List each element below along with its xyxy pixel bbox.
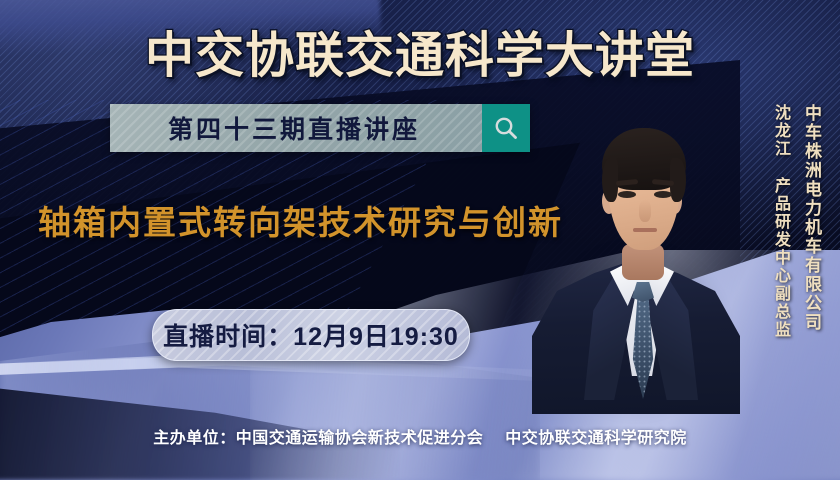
speaker-name-role: 沈龙江 产品研发中心副总监 [768,104,792,339]
episode-label: 第四十三期直播讲座 [168,110,424,146]
page-title: 中交协联交通科学大讲堂 [0,16,840,87]
portrait-hair-side-left [602,158,618,202]
footer-organizers: 主办单位：中国交通运输协会新技术促进分会中交协联交通科学研究院 [0,424,840,448]
episode-banner-background: 第四十三期直播讲座 [110,104,482,152]
portrait-eye-right [654,191,672,198]
footer-organizer-primary: 中国交通运输协会新技术促进分会 [236,430,484,447]
broadcast-time-badge: 直播时间：12月9日19:30 [152,309,470,361]
portrait-nose [639,200,651,222]
portrait-eye-left [618,191,636,198]
speaker-company: 中车株洲电力机车有限公司 [799,104,824,332]
episode-banner: 第四十三期直播讲座 [110,104,530,152]
broadcast-time-text: 直播时间：12月9日19:30 [163,317,459,353]
search-icon [493,115,519,141]
footer-organizer-secondary: 中交协联交通科学研究院 [505,430,687,447]
portrait-mouth [633,228,657,232]
speaker-portrait [540,96,730,406]
live-lecture-poster: 中交协联交通科学大讲堂 第四十三期直播讲座 轴箱内置式转向架技术研究与创新 直播… [0,0,840,480]
lecture-title: 轴箱内置式转向架技术研究与创新 [38,196,563,244]
search-button[interactable] [482,104,530,152]
footer-prefix: 主办单位： [153,430,236,447]
